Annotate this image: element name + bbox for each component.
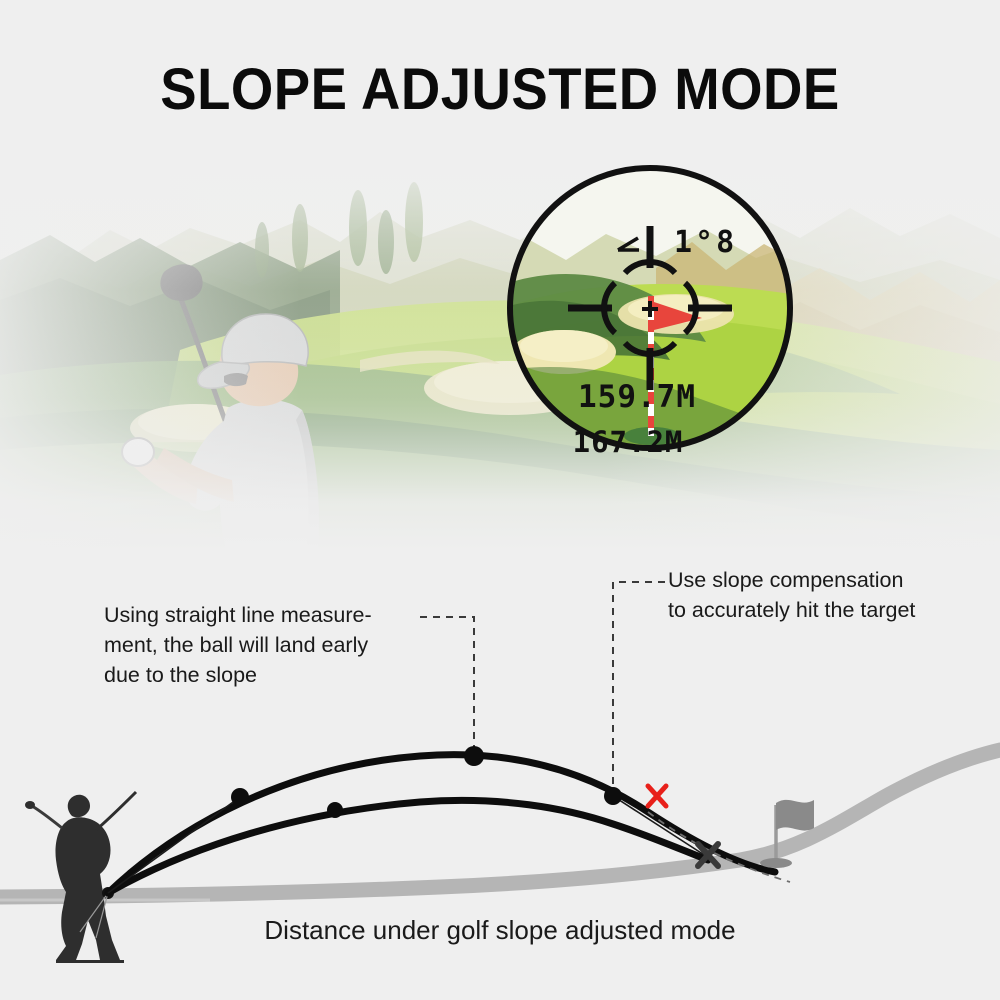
golf-hole [760, 858, 792, 868]
dot-upper-apex [464, 746, 484, 766]
golf-course-photo [0, 150, 1000, 550]
slope-adjusted-mode-infographic: SLOPE ADJUSTED MODE [0, 0, 1000, 1000]
dot-lower-1 [327, 802, 343, 818]
straight-distance-readout: 159.7M [578, 379, 696, 415]
slope-distance-readout: 167.2M [573, 425, 684, 459]
dot-upper-1 [231, 788, 249, 806]
trajectory-diagram [0, 560, 1000, 960]
course-scenery [0, 150, 1000, 550]
leader-line-right [613, 582, 665, 796]
red-x-marker [648, 786, 666, 806]
terrain [0, 750, 1000, 900]
diagram-caption: Distance under golf slope adjusted mode [0, 915, 1000, 946]
dot-upper-2 [604, 787, 622, 805]
leader-line-left [420, 617, 474, 756]
rangefinder-scope-view: 1°8 159.7M 167.2M [506, 164, 794, 452]
angle-value: 1°8 [674, 225, 737, 260]
page-title: SLOPE ADJUSTED MODE [30, 56, 970, 123]
